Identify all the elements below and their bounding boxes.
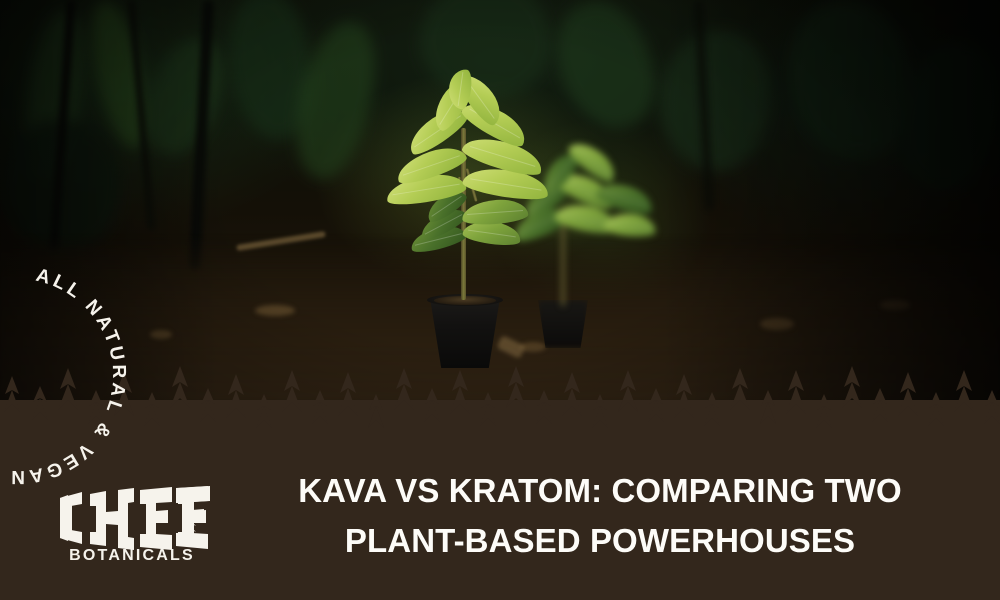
soil-speck: [255, 305, 295, 316]
background-plant-stem: [561, 222, 565, 306]
plant-pot: [430, 298, 500, 368]
soil-speck: [760, 318, 794, 330]
background-plant-pot: [538, 300, 588, 348]
page-title: KAVA VS KRATOM: COMPARING TWO PLANT-BASE…: [230, 466, 970, 566]
blog-hero-banner: KAVA VS KRATOM: COMPARING TWO PLANT-BASE…: [0, 0, 1000, 600]
soil-speck: [150, 330, 172, 339]
badge-svg: ALL NATURAL & VEGAN: [0, 250, 142, 500]
hero-photo: [0, 0, 1000, 400]
logo-subtext: BOTANICALS: [69, 547, 195, 564]
all-natural-vegan-badge: ALL NATURAL & VEGAN: [0, 250, 142, 500]
page-title-line-2: PLANT-BASED POWERHOUSES: [230, 516, 970, 566]
badge-text: ALL NATURAL & VEGAN: [8, 265, 130, 487]
forest-soil: [0, 238, 1000, 400]
soil-speck: [880, 300, 910, 310]
page-title-line-1: KAVA VS KRATOM: COMPARING TWO: [230, 466, 970, 516]
